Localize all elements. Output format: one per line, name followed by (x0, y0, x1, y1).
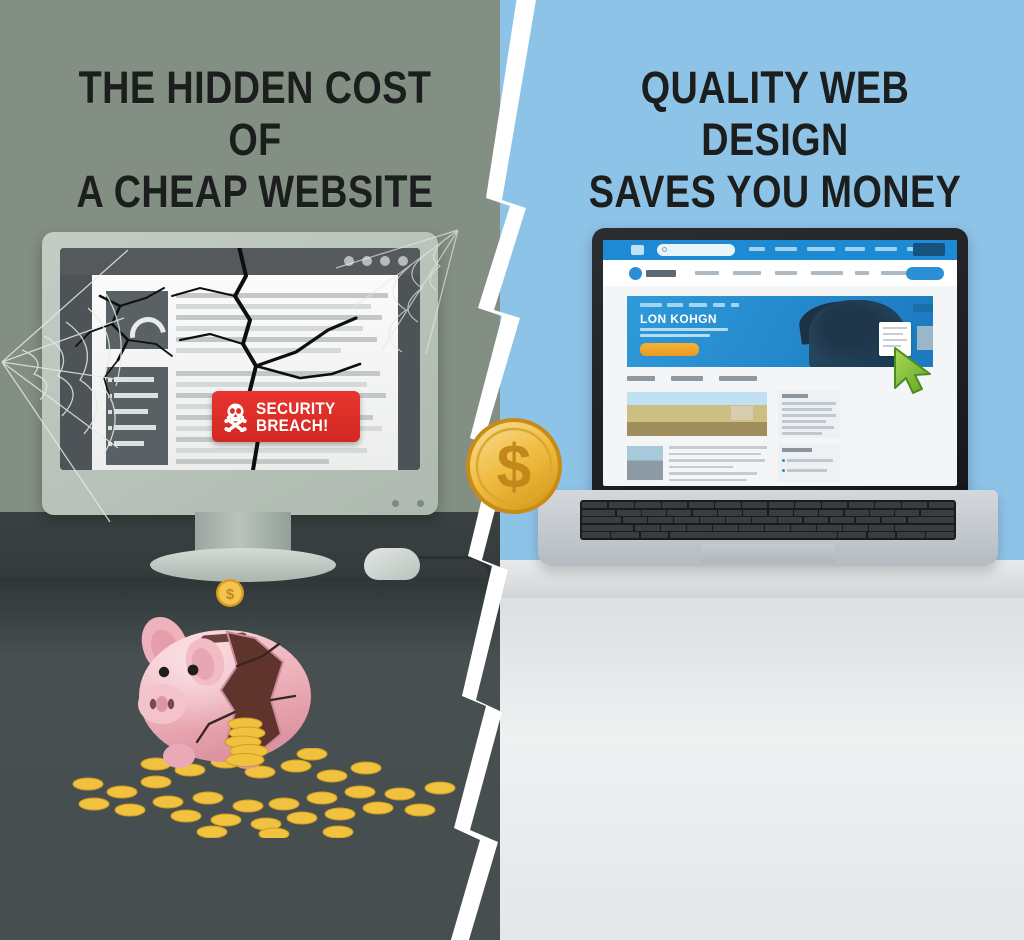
svg-text:$: $ (226, 586, 235, 603)
sidebar-list-card (778, 444, 840, 482)
brand-mark-icon (629, 267, 642, 280)
article-photo (627, 392, 767, 436)
website-hero-banner: LON KOHGN (627, 296, 933, 367)
topnav-item[interactable] (749, 247, 765, 251)
monitor-stand-base (150, 548, 336, 582)
mainnav-cta-button[interactable] (906, 267, 944, 280)
article-photo-secondary (627, 446, 663, 480)
website-top-navbar[interactable] (603, 240, 957, 260)
hero-subtitle-line (640, 334, 710, 337)
security-breach-text: SECURITY BREACH! (256, 400, 336, 434)
modern-silver-laptop: LON KOHGN (538, 228, 998, 580)
search-icon (662, 247, 667, 252)
hero-title: LON KOHGN (640, 312, 717, 326)
laptop-screen: LON KOHGN (603, 240, 957, 486)
hero-subtitle-line (640, 328, 728, 331)
monitor-indicator-lights (392, 500, 424, 507)
topnav-item[interactable] (775, 247, 797, 251)
center-dollar-coin: $ (462, 414, 566, 518)
laptop-lid: LON KOHGN (592, 228, 968, 496)
hero-cta-button[interactable] (640, 343, 699, 356)
topnav-cta-button[interactable] (913, 243, 945, 256)
dollar-symbol: $ (497, 433, 531, 502)
falling-coin-icon: $ (215, 578, 245, 608)
topnav-item[interactable] (845, 247, 865, 251)
topnav-item[interactable] (807, 247, 835, 251)
laptop-base (538, 490, 998, 566)
left-headline: THE HIDDEN COST OF A CHEAP WEBSITE (58, 62, 453, 218)
security-breach-alert-banner: SECURITY BREACH! (212, 391, 360, 442)
hero-side-bar (913, 304, 933, 312)
right-headline: QUALITY WEB DESIGN SAVES YOU MONEY (578, 62, 973, 218)
brand-name-text (646, 270, 676, 277)
cobweb-icon-secondary (330, 226, 460, 356)
hero-crumb (731, 303, 739, 307)
hero-crumb (640, 303, 662, 307)
hero-crumb (713, 303, 725, 307)
hero-crumb (667, 303, 683, 307)
mainnav-item[interactable] (775, 271, 797, 275)
tab-item[interactable] (671, 376, 703, 381)
cracked-pink-piggy-bank (105, 604, 355, 784)
cobweb-icon (0, 222, 130, 602)
green-arrow-cursor-icon (889, 344, 937, 396)
website-tab-row[interactable] (627, 376, 757, 381)
hero-crumb (689, 303, 707, 307)
website-main-navbar[interactable] (603, 260, 957, 286)
skull-and-crossbones-icon (222, 402, 249, 432)
topnav-item[interactable] (875, 247, 897, 251)
computer-mouse (364, 548, 420, 580)
article-text-block (669, 446, 767, 485)
mainnav-item[interactable] (881, 271, 909, 275)
tab-item[interactable] (627, 376, 655, 381)
right-floor (500, 598, 1024, 940)
tab-item[interactable] (719, 376, 757, 381)
search-input[interactable] (657, 244, 735, 256)
laptop-keyboard[interactable] (580, 500, 956, 540)
mainnav-item[interactable] (733, 271, 761, 275)
mouse-cable (414, 556, 492, 578)
infographic-poster: SECURITY BREACH! (0, 0, 1024, 940)
site-logo-icon (631, 245, 644, 255)
mainnav-item[interactable] (695, 271, 719, 275)
mainnav-item[interactable] (811, 271, 843, 275)
article-text-card (778, 390, 840, 438)
laptop-trackpad[interactable] (701, 544, 835, 563)
mainnav-item[interactable] (855, 271, 869, 275)
